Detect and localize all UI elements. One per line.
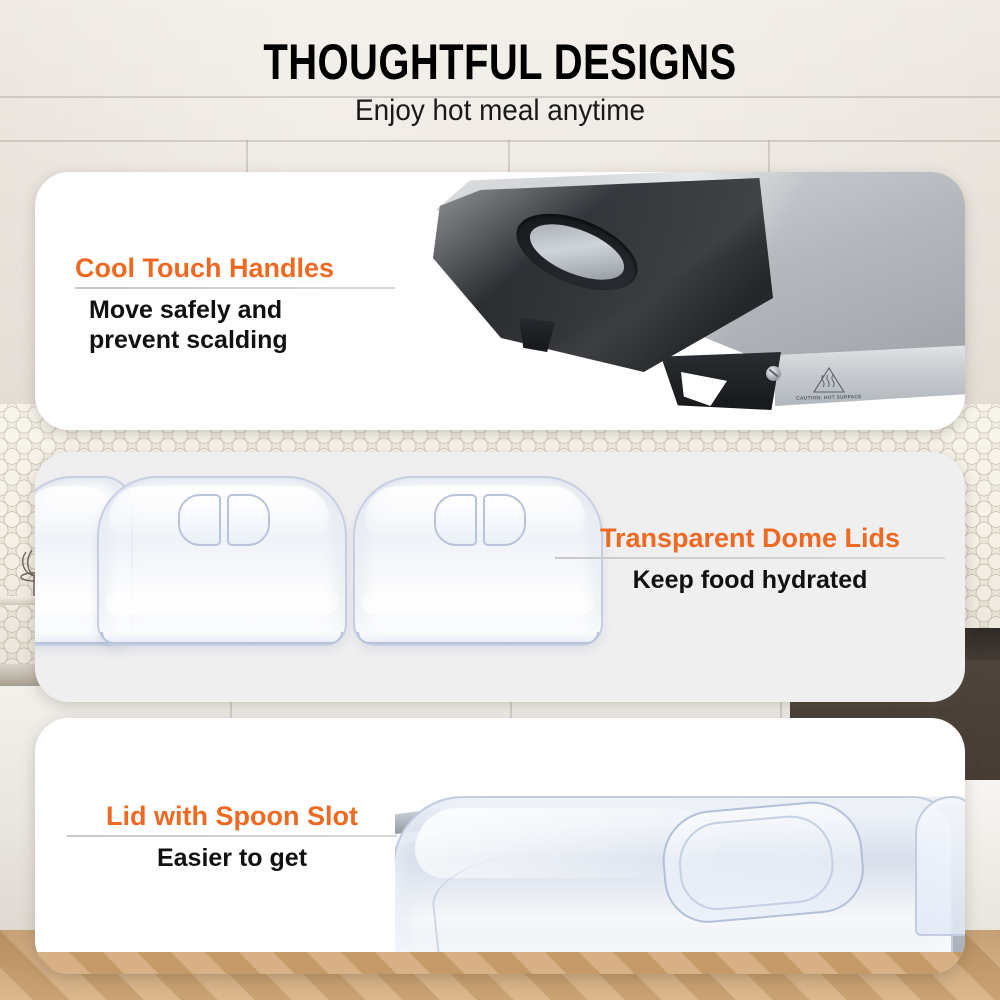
card1-heading: Cool Touch Handles — [75, 252, 395, 284]
card2-heading: Transparent Dome Lids — [555, 522, 945, 554]
page-subtitle: Enjoy hot meal anytime — [35, 94, 965, 128]
card1-text-block: Cool Touch Handles Move safely and preve… — [75, 252, 395, 355]
adjacent-lid-edge — [915, 796, 965, 936]
card3-divider — [67, 835, 397, 837]
card1-sub-line2: prevent scalding — [75, 325, 395, 355]
card1-divider — [75, 287, 395, 289]
dome-lid-1 — [97, 476, 347, 646]
header-block: THOUGHTFUL DESIGNS Enjoy hot meal anytim… — [0, 36, 1000, 128]
caution-label-text: CAUTION: HOT SURFACE — [781, 394, 877, 404]
card1-sub-line1: Move safely and — [75, 295, 395, 325]
dome-band — [105, 588, 339, 614]
mounting-screw — [766, 366, 781, 381]
feature-card-transparent-dome-lids[interactable]: Transparent Dome Lids Keep food hydrated — [35, 452, 965, 702]
card2-divider — [555, 557, 945, 559]
spoon-slot-opening — [658, 797, 867, 926]
hot-surface-warning-triangle-icon — [812, 366, 846, 394]
infographic-canvas: THOUGHTFUL DESIGNS Enjoy hot meal anytim… — [0, 0, 1000, 1000]
transparent-lid — [393, 796, 953, 974]
card2-text-block: Transparent Dome Lids Keep food hydrated — [555, 522, 945, 595]
dome-handle-left-half — [434, 494, 477, 546]
dome-handle-right-half — [227, 494, 270, 546]
dome-handle-right-half — [483, 494, 526, 546]
dome-lid-handle — [434, 494, 526, 546]
floor-strip-in-photo — [35, 952, 965, 974]
cabinet-seam-line — [0, 140, 1000, 142]
card3-text-block: Lid with Spoon Slot Easier to get — [67, 800, 397, 873]
dome-rim — [101, 632, 343, 644]
card2-sub-line1: Keep food hydrated — [555, 565, 945, 595]
floor-strip-mask — [35, 922, 315, 952]
page-title: THOUGHTFUL DESIGNS — [100, 36, 900, 88]
card3-heading: Lid with Spoon Slot — [67, 800, 397, 832]
feature-card-lid-with-spoon-slot[interactable]: Lid with Spoon Slot Easier to get — [35, 718, 965, 974]
dome-handle-left-half — [178, 494, 221, 546]
card3-sub-line1: Easier to get — [67, 843, 397, 873]
dome-rim — [357, 632, 599, 644]
caution-hot-surface-label: CAUTION: HOT SURFACE — [781, 366, 877, 402]
dome-lid-handle — [178, 494, 270, 546]
